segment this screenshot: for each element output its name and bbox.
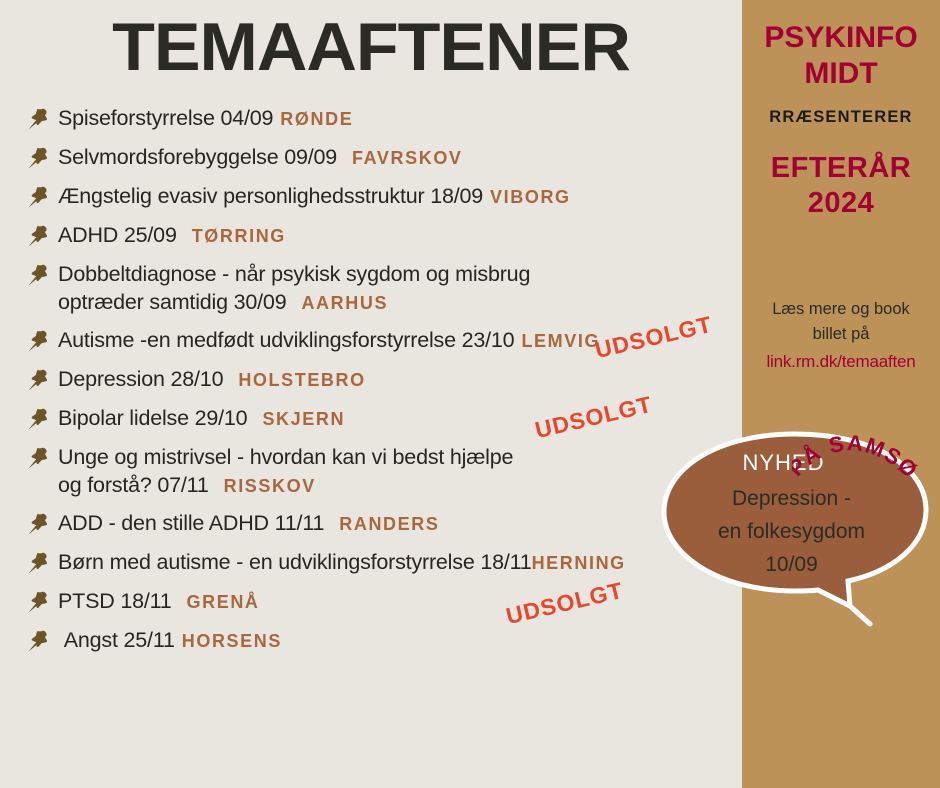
bubble-date: 10/09	[664, 548, 919, 581]
event-label: PTSD 18/11GRENÅ	[58, 587, 260, 616]
event-city: HOLSTEBRO	[238, 370, 365, 390]
pushpin-icon	[26, 184, 52, 210]
season-year: 2024	[742, 185, 940, 221]
event-city: RØNDE	[280, 109, 353, 129]
event-row[interactable]: Ængstelig evasiv personlighedsstruktur 1…	[26, 182, 742, 212]
pushpin-icon	[26, 223, 52, 249]
event-city: FAVRSKOV	[352, 148, 462, 168]
event-label: Selvmordsforebyggelse 09/09FAVRSKOV	[58, 143, 463, 172]
event-city: AARHUS	[301, 293, 388, 313]
event-row[interactable]: Dobbeltdiagnose - når psykisk sygdom og …	[26, 260, 742, 317]
event-row[interactable]: Selvmordsforebyggelse 09/09FAVRSKOV	[26, 143, 742, 173]
event-row[interactable]: ADHD 25/09TØRRING	[26, 221, 742, 251]
event-city: VIBORG	[490, 187, 571, 207]
event-label: Unge og mistrivsel - hvordan kan vi beds…	[58, 443, 513, 500]
event-city: GRENÅ	[187, 592, 260, 612]
page-title: TEMAAFTENER	[0, 8, 753, 86]
svg-text:PÅ SAMSØ: PÅ SAMSØ	[792, 432, 923, 483]
pushpin-icon	[26, 550, 52, 576]
event-label: Spiseforstyrrelse 04/09RØNDE	[58, 104, 353, 133]
brand-name-line1: PSYKINFO	[742, 20, 940, 56]
brand-name-line2: MIDT	[742, 56, 940, 92]
presents-label: RRÆSENTERER	[742, 108, 940, 127]
pushpin-icon	[26, 511, 52, 537]
event-city: RISSKOV	[224, 476, 316, 496]
event-row[interactable]: Børn med autisme - en udviklingsforstyrr…	[26, 548, 742, 578]
pushpin-icon	[26, 445, 52, 471]
booking-line1: Læs mere og book	[750, 297, 932, 322]
pushpin-icon	[26, 106, 52, 132]
event-list: Spiseforstyrrelse 04/09RØNDESelvmordsfor…	[26, 104, 742, 665]
event-label: Ængstelig evasiv personlighedsstruktur 1…	[58, 182, 571, 211]
event-row[interactable]: Depression 28/10HOLSTEBRO	[26, 365, 742, 395]
event-label: Angst 25/11HORSENS	[58, 626, 282, 655]
event-label: ADHD 25/09TØRRING	[58, 221, 286, 250]
season-label: EFTERÅR	[742, 151, 940, 185]
event-row[interactable]: PTSD 18/11GRENÅ	[26, 587, 742, 617]
location-stamp-pa-samso: PÅ SAMSØ	[792, 432, 940, 522]
booking-info: Læs mere og book billet på link.rm.dk/te…	[742, 297, 940, 374]
pushpin-icon	[26, 328, 52, 354]
booking-line2: billet på	[750, 322, 932, 347]
event-row[interactable]: Angst 25/11HORSENS	[26, 626, 742, 656]
event-city: LEMVIG	[521, 331, 600, 351]
event-city: HERNING	[532, 553, 626, 573]
event-city: SKJERN	[262, 409, 345, 429]
event-label: Dobbeltdiagnose - når psykisk sygdom og …	[58, 260, 530, 317]
pushpin-icon	[26, 367, 52, 393]
event-city: RANDERS	[339, 514, 439, 534]
pushpin-icon	[26, 262, 52, 288]
pushpin-icon	[26, 589, 52, 615]
poster-canvas: TEMAAFTENER Spiseforstyrrelse 04/09RØNDE…	[0, 0, 940, 788]
event-city: HORSENS	[182, 631, 282, 651]
event-label: Børn med autisme - en udviklingsforstyrr…	[58, 548, 626, 577]
event-label: ADD - den stille ADHD 11/11RANDERS	[58, 509, 439, 538]
sidebar: PSYKINFO MIDT RRÆSENTERER EFTERÅR 2024 L…	[742, 0, 940, 788]
event-row[interactable]: Unge og mistrivsel - hvordan kan vi beds…	[26, 443, 742, 500]
event-row[interactable]: Spiseforstyrrelse 04/09RØNDE	[26, 104, 742, 134]
pushpin-icon	[26, 628, 52, 654]
pushpin-icon	[26, 145, 52, 171]
pushpin-icon	[26, 406, 52, 432]
location-stamp-text: PÅ SAMSØ	[792, 432, 923, 483]
news-speech-bubble: NYHED Depression - en folkesygdom 10/09 …	[650, 428, 940, 633]
booking-link[interactable]: link.rm.dk/temaaften	[750, 349, 932, 374]
event-label: Depression 28/10HOLSTEBRO	[58, 365, 366, 394]
event-label: Bipolar lidelse 29/10SKJERN	[58, 404, 345, 433]
event-city: TØRRING	[192, 226, 286, 246]
event-row[interactable]: ADD - den stille ADHD 11/11RANDERS	[26, 509, 742, 539]
event-label: Autisme -en medfødt udviklingsforstyrrel…	[58, 326, 600, 355]
